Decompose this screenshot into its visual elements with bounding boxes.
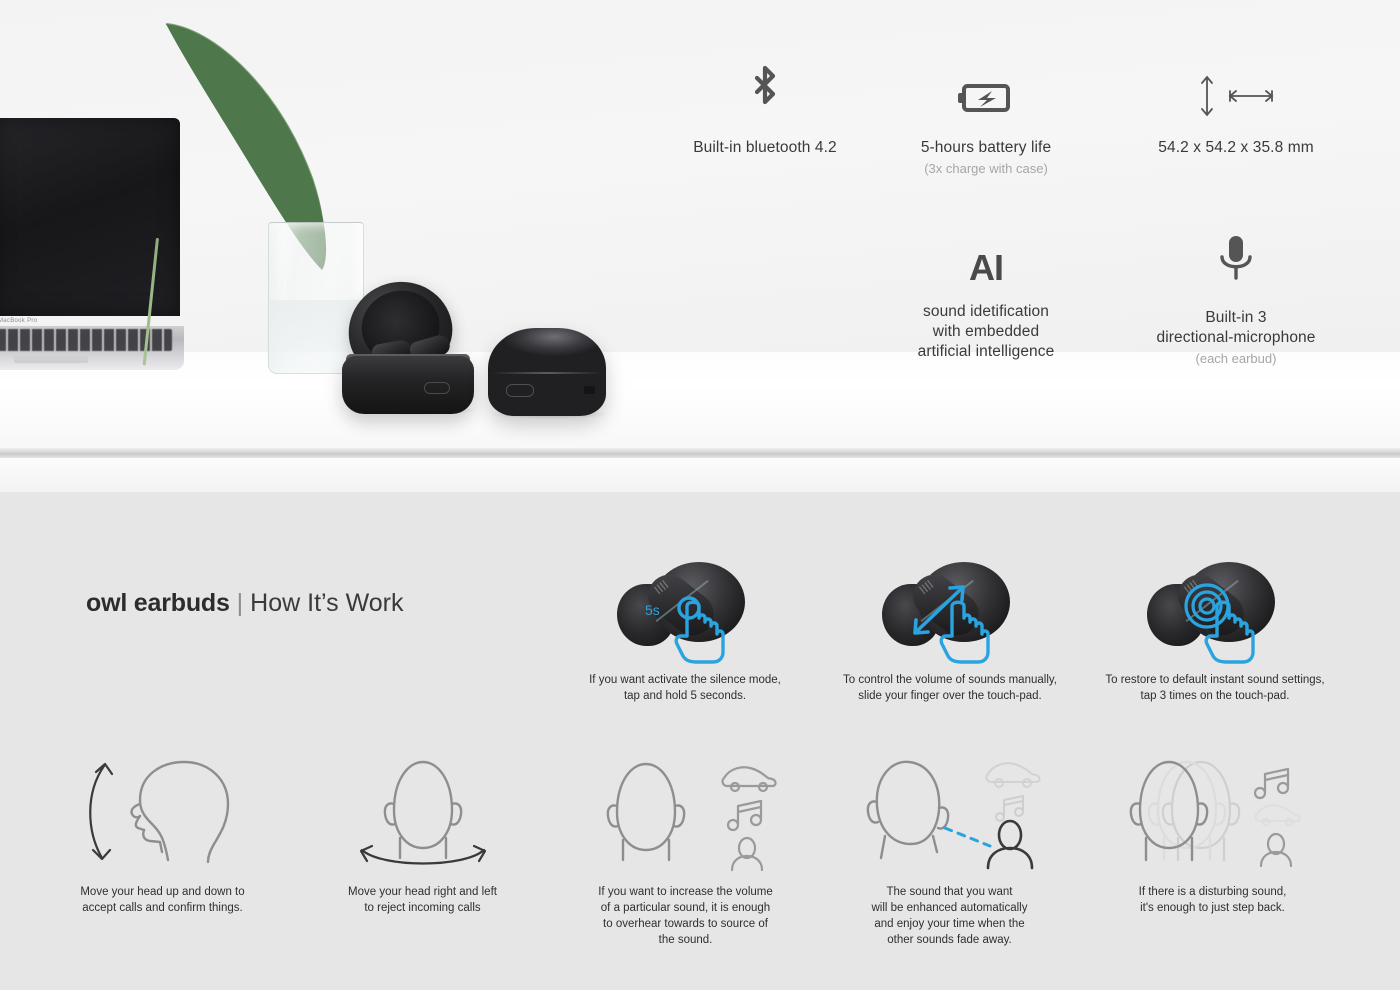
earbuds-case-closed xyxy=(488,328,606,416)
person-icon-highlighted xyxy=(988,821,1032,868)
music-note-icon xyxy=(728,801,761,830)
head-profile-nod-art xyxy=(60,752,265,872)
title-heading: How It’s Work xyxy=(250,589,403,617)
spec-title: sound idetification with embedded artifi… xyxy=(866,302,1106,362)
product-infographic-page: MacBook Pro xyxy=(0,0,1400,990)
gesture-caption: If you want activate the silence mode, t… xyxy=(555,672,815,704)
desk-front-panel xyxy=(0,458,1400,492)
desk-edge xyxy=(0,448,1400,458)
laptop-brand-label: MacBook Pro xyxy=(0,318,180,324)
laptop-trackpad xyxy=(14,354,88,363)
head-gesture-step-back: If there is a disturbing sound, it's eno… xyxy=(1110,752,1315,916)
brand-name: owl earbuds xyxy=(86,589,230,617)
head-front xyxy=(1131,762,1207,860)
head-turn-sources-art xyxy=(583,752,788,872)
touch-gesture-tap-hold: 5s If you want activate the silence mode… xyxy=(555,558,815,704)
gesture-caption: Move your head up and down to accept cal… xyxy=(60,884,265,916)
gesture-caption: To restore to default instant sound sett… xyxy=(1085,672,1345,704)
product-photo-section: MacBook Pro xyxy=(0,0,1400,492)
music-note-icon xyxy=(1255,769,1288,798)
spec-dimensions: 54.2 x 54.2 x 35.8 mm xyxy=(1116,62,1356,158)
touch-gesture-slide: To control the volume of sounds manually… xyxy=(820,558,1080,704)
head-focus-person-art xyxy=(847,752,1052,872)
car-icon-faded xyxy=(1256,805,1300,825)
car-icon-faded xyxy=(987,763,1040,787)
battery-charge-icon xyxy=(866,62,1106,118)
title-separator: | xyxy=(237,589,244,617)
ai-glyph-icon: AI xyxy=(866,232,1106,288)
page-title: owl earbuds|How It’s Work xyxy=(86,589,403,618)
spec-microphone: Built-in 3 directional-microphone (each … xyxy=(1116,232,1356,368)
hand-tap-icon xyxy=(667,592,741,664)
gesture-caption: The sound that you want will be enhanced… xyxy=(847,884,1052,948)
person-icon xyxy=(732,838,762,870)
spec-subtitle: (each earbud) xyxy=(1116,349,1356,368)
touch-gesture-triple-tap: To restore to default instant sound sett… xyxy=(1085,558,1345,704)
spec-title: Built-in 3 directional-microphone xyxy=(1116,308,1356,348)
gesture-caption: If there is a disturbing sound, it's eno… xyxy=(1110,884,1315,916)
gesture-caption: Move your head right and left to reject … xyxy=(320,884,525,916)
microphone-icon xyxy=(1116,232,1356,288)
spec-title: 54.2 x 54.2 x 35.8 mm xyxy=(1116,138,1356,158)
focus-connection-line xyxy=(945,828,990,846)
case-body xyxy=(342,356,474,414)
spec-title: Built-in bluetooth 4.2 xyxy=(645,138,885,158)
hand-slide-icon xyxy=(932,592,1006,664)
closed-case-port xyxy=(584,386,595,394)
spec-bluetooth: Built-in bluetooth 4.2 xyxy=(645,62,885,158)
gesture-caption: To control the volume of sounds manually… xyxy=(820,672,1080,704)
hand-tap-icon xyxy=(1197,592,1271,664)
head-front-shake-art xyxy=(320,752,525,872)
head-gesture-shake: Move your head right and left to reject … xyxy=(320,752,525,916)
case-button xyxy=(424,382,450,394)
earbud-tap-hold-art: 5s xyxy=(615,558,755,664)
earbuds-case-open xyxy=(342,282,474,414)
spec-subtitle: (3x charge with case) xyxy=(866,159,1106,178)
spec-ai: AI sound idetification with embedded art… xyxy=(866,232,1106,362)
person-icon xyxy=(1261,834,1291,866)
head-gesture-focus: The sound that you want will be enhanced… xyxy=(847,752,1052,948)
gesture-caption: If you want to increase the volume of a … xyxy=(583,884,788,948)
head-gesture-nod: Move your head up and down to accept cal… xyxy=(60,752,265,916)
closed-case-seam xyxy=(491,372,603,374)
spec-title: 5-hours battery life xyxy=(866,138,1106,158)
bluetooth-icon xyxy=(645,62,885,118)
dimensions-icon xyxy=(1116,62,1356,118)
earbud-slide-art xyxy=(880,558,1020,664)
music-note-icon-faded xyxy=(996,796,1023,821)
head-gesture-overhear: If you want to increase the volume of a … xyxy=(583,752,788,948)
spec-battery: 5-hours battery life (3x charge with cas… xyxy=(866,62,1106,178)
hold-duration-badge: 5s xyxy=(645,602,660,618)
earbud-triple-tap-art xyxy=(1145,558,1285,664)
ai-glyph-text: AI xyxy=(969,248,1003,288)
car-icon xyxy=(723,767,776,791)
head-step-back-art xyxy=(1110,752,1315,872)
closed-case-button xyxy=(506,384,534,397)
